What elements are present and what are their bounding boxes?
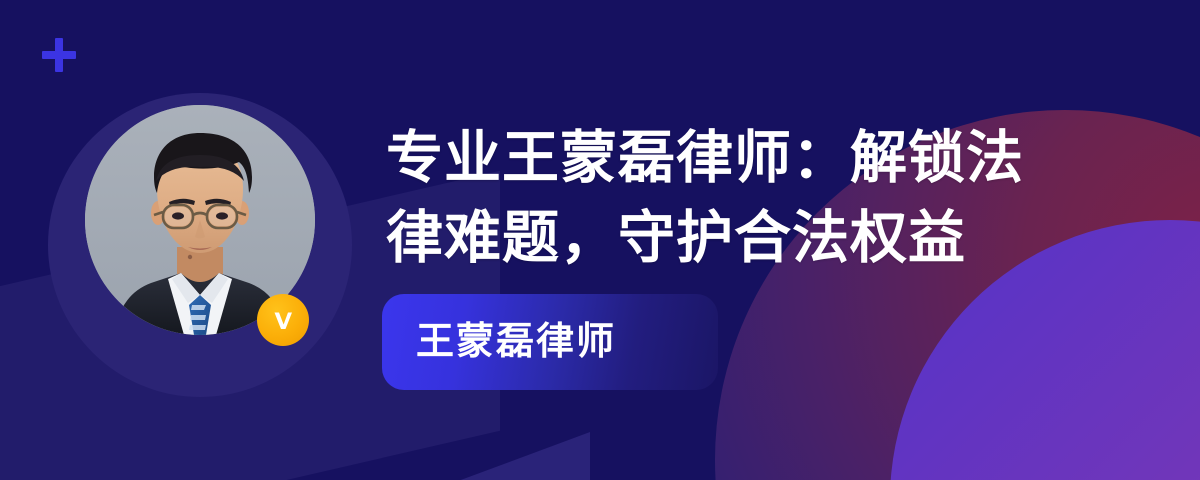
avatar xyxy=(48,93,352,397)
lawyer-name-label: 王蒙磊律师 xyxy=(416,323,616,361)
left-wedge-shape-secondary xyxy=(170,388,590,480)
verified-badge-icon xyxy=(257,294,309,346)
lawyer-name-pill[interactable]: 王蒙磊律师 xyxy=(382,294,718,390)
headline-block: 专业王蒙磊律师：解锁法律难题，守护合法权益 xyxy=(386,118,1086,278)
plus-icon xyxy=(42,38,76,72)
lawyer-promo-banner: 专业王蒙磊律师：解锁法律难题，守护合法权益 王蒙磊律师 xyxy=(0,0,1200,480)
page-title: 专业王蒙磊律师：解锁法律难题，守护合法权益 xyxy=(386,118,1058,278)
